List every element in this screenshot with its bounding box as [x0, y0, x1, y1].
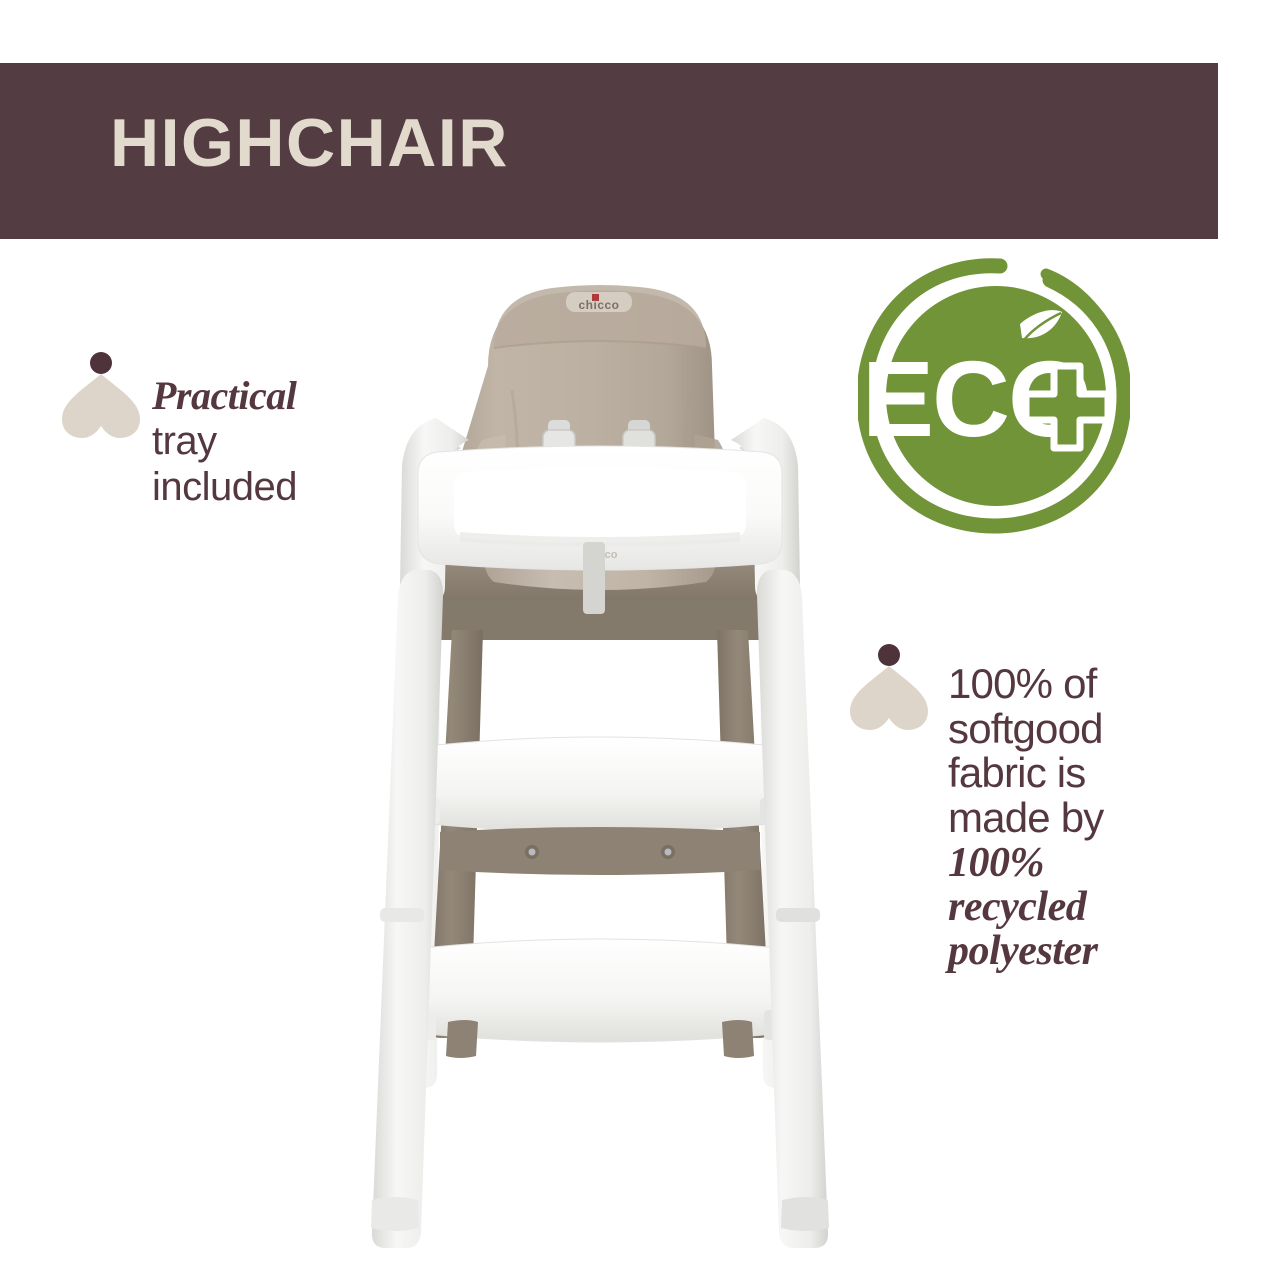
bullet-shield-shape	[62, 374, 140, 438]
bullet-dot-icon	[90, 352, 112, 374]
bullet-dot-icon	[878, 644, 900, 666]
highchair-illustration: chicco	[340, 270, 860, 1260]
heart-bullet-icon	[848, 644, 930, 730]
feature-practical-text: Practical tray included	[152, 376, 402, 509]
feature-recycled-line-4: made by	[948, 796, 1210, 841]
upper-footrest	[392, 737, 808, 832]
feature-recycled-strong-1: 100%	[948, 842, 1210, 884]
product-image: chicco	[340, 270, 860, 1260]
feature-recycled-line-3: fabric is	[948, 751, 1210, 796]
feature-practical-strong: Practical	[152, 376, 402, 416]
page-title: HIGHCHAIR	[110, 109, 509, 177]
crotch-strap	[583, 542, 605, 614]
feature-recycled-line-2: softgood	[948, 707, 1210, 752]
crossbar	[440, 827, 760, 875]
feature-practical-line-2: included	[152, 466, 402, 508]
brand-logo-chicco: chicco	[566, 292, 632, 312]
feature-recycled-strong-3: polyester	[948, 930, 1210, 972]
feature-recycled-strong-2: recycled	[948, 886, 1210, 928]
feature-practical-line-1: tray	[152, 420, 402, 462]
bullet-shield-shape	[850, 666, 928, 730]
heart-bullet-icon	[60, 352, 142, 438]
infographic-canvas: HIGHCHAIR	[0, 0, 1280, 1280]
eco-plus-badge: ECO	[858, 258, 1130, 540]
feature-recycled-line-1: 100% of	[948, 662, 1210, 707]
svg-text:chicco: chicco	[578, 298, 619, 312]
feature-recycled-text: 100% of softgood fabric is made by 100% …	[948, 662, 1210, 972]
